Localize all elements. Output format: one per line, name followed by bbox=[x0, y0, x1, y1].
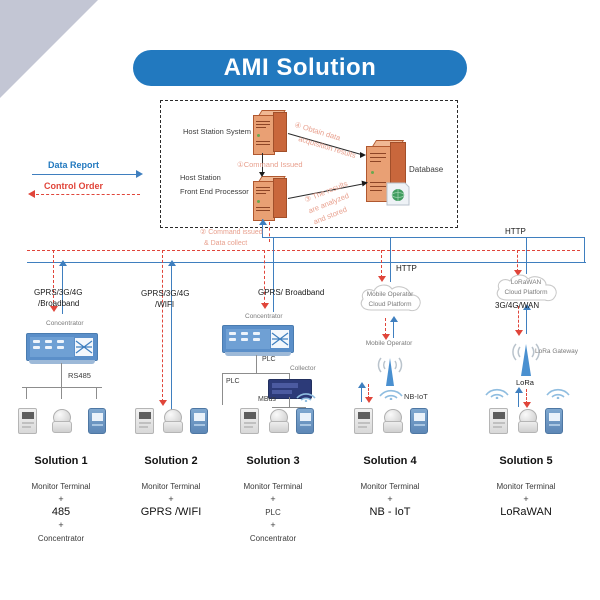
corner-decoration bbox=[0, 0, 98, 98]
solution-5-tower-label: LoRa Gateway bbox=[535, 348, 578, 355]
solution-5-desc-1: + bbox=[497, 493, 556, 506]
solution-3-desc-3: + bbox=[244, 519, 303, 532]
solution-3-plc-label-upper: PLC bbox=[262, 356, 276, 363]
solution-1-concentrator-icon bbox=[26, 333, 98, 361]
solution-2-desc-0: Monitor Terminal bbox=[141, 480, 202, 493]
front-end-processor-label-line1: Host Station bbox=[180, 173, 221, 182]
solution-4-meter-red-arrow bbox=[365, 397, 373, 403]
solution-4-desc-0: Monitor Terminal bbox=[361, 480, 420, 493]
solution-1-desc-2: 485 bbox=[32, 506, 91, 519]
bus-horizontal-blue bbox=[27, 262, 586, 263]
solution-3-mbus-riser bbox=[289, 397, 290, 407]
solution-5-cloud-label-line1: LoRaWAN bbox=[511, 279, 541, 286]
solution-3-plc-riser bbox=[256, 355, 257, 373]
solution-2-title: Solution 2 bbox=[144, 455, 197, 467]
solution-3-desc-0: Monitor Terminal bbox=[244, 480, 303, 493]
database-globe-icon bbox=[385, 181, 411, 207]
page-title: AMI Solution bbox=[133, 50, 467, 86]
front-end-processor-server-icon bbox=[253, 176, 287, 220]
solution-1-bus-label: RS485 bbox=[68, 371, 91, 380]
solution-3-concentrator-label: Concentrator bbox=[245, 313, 283, 320]
legend-control-order-line bbox=[36, 194, 140, 195]
solution-5-wan-blue bbox=[526, 306, 527, 334]
solution-5-radio-wave-left-icon bbox=[484, 381, 510, 399]
solution-3-link-label: GPRS/ Broadband bbox=[258, 288, 324, 297]
solution-5-meter-red-arrow bbox=[523, 402, 531, 408]
solution-3-mbus-label: MBus bbox=[258, 396, 276, 403]
solution-4-cloud-label-line2: Cloud Platform bbox=[369, 301, 412, 308]
solution-2-description: Monitor Terminal + GPRS /WIFI bbox=[141, 480, 202, 519]
solution-3-desc-2: PLC bbox=[244, 506, 303, 519]
solution-2-red-link bbox=[162, 250, 163, 402]
solution-3-title: Solution 3 bbox=[246, 455, 299, 467]
solution-4-cloud-icon bbox=[355, 282, 427, 316]
step4-arrow bbox=[360, 152, 366, 158]
bus-drop-red bbox=[269, 222, 270, 242]
solution-4-red-link bbox=[381, 250, 382, 278]
bus-right-riser-blue bbox=[584, 237, 585, 263]
solution-1-desc-3: + bbox=[32, 519, 91, 532]
solution-2-link-label-line1: GPRS/3G/4G bbox=[141, 289, 189, 298]
legend-data-report-arrow bbox=[136, 170, 143, 178]
solution-3-collector-label: Collector bbox=[290, 365, 316, 372]
solution-2-desc-2: GPRS /WIFI bbox=[141, 506, 202, 519]
solution-5-wan-label: 3G/4G/WAN bbox=[495, 301, 539, 310]
solution-3-desc-4: Concentrator bbox=[244, 532, 303, 545]
front-end-processor-label-line2: Front End Processor bbox=[180, 187, 249, 196]
database-label: Database bbox=[409, 165, 443, 174]
solution-1-desc-4: Concentrator bbox=[32, 532, 91, 545]
solution-4-desc-1: + bbox=[361, 493, 420, 506]
solution-3-desc-1: + bbox=[244, 493, 303, 506]
solution-5-radio-wave-right-icon bbox=[545, 381, 571, 399]
solution-4-meter-blue-arrow bbox=[358, 382, 366, 388]
solution-3-wifi-icon bbox=[295, 386, 317, 402]
solution-5-tower-icon bbox=[509, 338, 543, 378]
solution-1-concentrator-label: Concentrator bbox=[46, 320, 84, 327]
solution-5-cloud-label-line2: Cloud Platform bbox=[505, 289, 548, 296]
solution-3-left-branch bbox=[222, 373, 223, 405]
bus-drop-arrow bbox=[259, 219, 267, 225]
solution-3-red-arrow bbox=[261, 303, 269, 309]
solution-4-desc-2: NB - IoT bbox=[361, 506, 420, 519]
solution-1-title: Solution 1 bbox=[34, 455, 87, 467]
step2-label-line2: & Data collect bbox=[204, 240, 247, 247]
bus-horizontal-red bbox=[27, 250, 580, 251]
solution-3-bus-horizontal bbox=[222, 373, 290, 374]
step3-arrow bbox=[362, 180, 369, 187]
legend: Data Report Control Order bbox=[22, 160, 152, 202]
solution-5-description: Monitor Terminal + LoRaWAN bbox=[497, 480, 556, 519]
bus-top-blue bbox=[262, 237, 585, 238]
diagram-canvas: AMI Solution Data Report Control Order H… bbox=[0, 0, 600, 600]
solution-1-link-label-line2: /Broadband bbox=[38, 299, 79, 308]
solution-3-description: Monitor Terminal + PLC + Concentrator bbox=[244, 480, 303, 545]
solution-4-http-label: HTTP bbox=[396, 264, 417, 273]
host-station-system-server-icon bbox=[253, 110, 287, 154]
solution-5-radio-label: LoRa bbox=[516, 378, 534, 387]
solution-2-blue-arrow bbox=[168, 260, 176, 266]
legend-data-report-label: Data Report bbox=[48, 160, 99, 170]
step2-label-line1: ② Command issued bbox=[200, 228, 263, 236]
solution-5-desc-2: LoRaWAN bbox=[497, 506, 556, 519]
step1-arrow bbox=[259, 172, 265, 177]
solution-1-drop-1 bbox=[26, 387, 27, 399]
solution-1-bus-riser bbox=[61, 363, 62, 387]
solution-4-cloud-label-line1: Mobile Operator bbox=[367, 291, 414, 298]
solution-5-blue-link bbox=[526, 237, 527, 274]
solution-1-drop-3 bbox=[96, 387, 97, 399]
solution-1-description: Monitor Terminal + 485 + Concentrator bbox=[32, 480, 91, 545]
solution-5-meter-blue-arrow bbox=[515, 387, 523, 393]
legend-data-report-line bbox=[32, 174, 138, 175]
solution-4-tower-label: Mobile Operator bbox=[366, 340, 413, 347]
solution-4-description: Monitor Terminal + NB - IoT bbox=[361, 480, 420, 519]
solution-5-red-link bbox=[517, 250, 518, 272]
legend-control-order-arrow bbox=[28, 190, 35, 198]
solution-3-plc-label-lower: PLC bbox=[226, 378, 240, 385]
solution-5-title: Solution 5 bbox=[499, 455, 552, 467]
legend-control-order-label: Control Order bbox=[44, 181, 103, 191]
solution-1-drop-2 bbox=[61, 387, 62, 399]
solution-3-concentrator-icon bbox=[222, 325, 294, 353]
solution-2-red-arrow bbox=[159, 400, 167, 406]
solution-3-blue-link bbox=[273, 237, 274, 312]
solution-1-blue-arrow bbox=[59, 260, 67, 266]
solution-4-title: Solution 4 bbox=[363, 455, 416, 467]
solution-4-radio-label: NB-IoT bbox=[404, 392, 428, 401]
solution-5-wan-red-arrow bbox=[515, 330, 523, 336]
page-title-text: AMI Solution bbox=[224, 54, 377, 82]
solution-2-desc-1: + bbox=[141, 493, 202, 506]
solution-1-desc-1: + bbox=[32, 493, 91, 506]
solution-2-blue-link bbox=[171, 262, 172, 410]
step1-label: ①Command Issued bbox=[237, 160, 303, 169]
solution-4-radio-wave-icon bbox=[378, 382, 404, 400]
solution-5-desc-0: Monitor Terminal bbox=[497, 480, 556, 493]
host-station-system-label: Host Station System bbox=[183, 127, 251, 136]
solution-5-http-label: HTTP bbox=[505, 227, 526, 236]
solution-2-link-label-line2: /WIFI bbox=[155, 300, 174, 309]
solution-1-link-label-line1: GPRS/3G/4G bbox=[34, 288, 82, 297]
solution-1-desc-0: Monitor Terminal bbox=[32, 480, 91, 493]
solution-4-cloud-blue-arrow bbox=[390, 316, 398, 322]
solution-4-blue-link bbox=[390, 237, 391, 282]
